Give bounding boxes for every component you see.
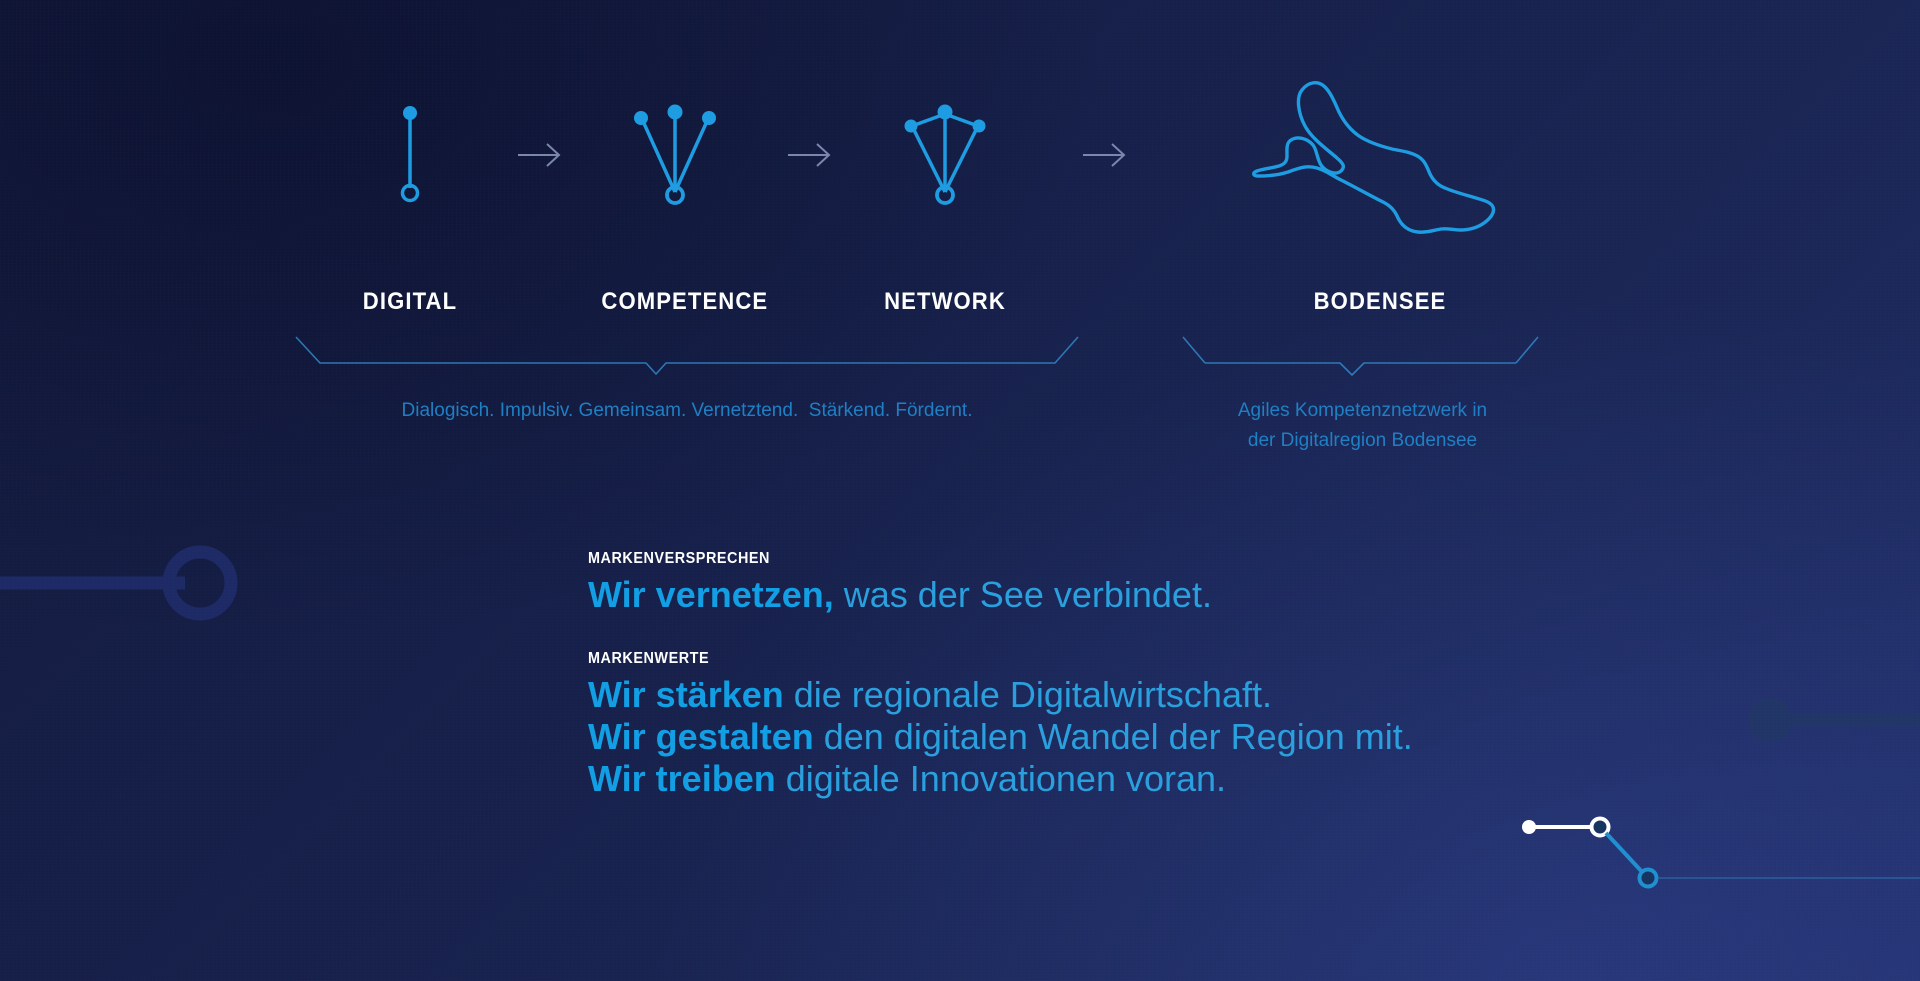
- markenwerte-line-2-bold: Wir gestalten: [588, 716, 814, 757]
- markenwerte-line-1-bold: Wir stärken: [588, 674, 784, 715]
- markenwerte-line-3: Wir treiben digitale Innovationen voran.: [588, 758, 1528, 800]
- markenwerte-line-1: Wir stärken die regionale Digitalwirtsch…: [588, 674, 1528, 716]
- connected-network-icon: [890, 99, 1000, 211]
- page-background: DIGITAL COMPETENCE NETWORK BODENSEE Dial…: [0, 0, 1920, 981]
- markenversprechen-group: MARKENVERSPRECHEN Wir vernetzen, was der…: [588, 550, 1528, 616]
- eyebrow-markenversprechen: MARKENVERSPRECHEN: [588, 550, 1434, 568]
- arrow-right-icon: [517, 141, 563, 169]
- stage-icon-bodensee: [1225, 60, 1535, 250]
- stage-icon-digital: [330, 60, 490, 250]
- stage-icon-competence: [595, 60, 755, 250]
- three-node-fan-icon: [620, 99, 730, 211]
- eyebrow-markenwerte: MARKENWERTE: [588, 650, 1434, 668]
- caption-right: Agiles Kompetenznetzwerk in der Digitalr…: [1185, 396, 1540, 456]
- bracket-right-right-leg: [1516, 337, 1538, 363]
- stage-arrow-2: [760, 60, 860, 250]
- left-node-decoration: [0, 552, 231, 614]
- stage-icon-network: [865, 60, 1025, 250]
- stage-label-network: NETWORK: [871, 288, 1018, 316]
- caption-right-line2: der Digitalregion Bodensee: [1185, 426, 1540, 456]
- markenwerte-line-2-rest: den digitalen Wandel der Region mit.: [814, 716, 1413, 757]
- markenwerte-list: Wir stärken die regionale Digitalwirtsch…: [588, 674, 1528, 800]
- claim-bold: Wir vernetzen,: [588, 574, 834, 615]
- stage-icon-row: [0, 60, 1920, 250]
- stage-arrow-1: [490, 60, 590, 250]
- stage-arrow-3: [1055, 60, 1155, 250]
- caption-left: Dialogisch. Impulsiv. Gemeinsam. Vernetz…: [296, 396, 1078, 426]
- stage-label-bodensee: BODENSEE: [1237, 288, 1522, 316]
- right-bottom-node-decoration: [1522, 819, 1920, 887]
- caption-right-line1: Agiles Kompetenznetzwerk in: [1185, 396, 1540, 426]
- bracket-right: [1205, 363, 1516, 375]
- stage-label-digital: DIGITAL: [336, 288, 483, 316]
- bracket-left: [296, 337, 1078, 374]
- markenwerte-line-3-bold: Wir treiben: [588, 758, 776, 799]
- stage-label-competence: COMPETENCE: [601, 288, 748, 316]
- bracket-right-left-leg: [1183, 337, 1205, 363]
- single-node-icon: [380, 100, 440, 210]
- markenwerte-group: MARKENWERTE Wir stärken die regionale Di…: [588, 650, 1528, 800]
- claim-markenversprechen: Wir vernetzen, was der See verbindet.: [588, 574, 1528, 616]
- arrow-right-icon: [787, 141, 833, 169]
- right-top-node-decoration: [1748, 698, 1920, 742]
- bodensee-lake-outline-icon: [1245, 68, 1515, 243]
- copy-block: MARKENVERSPRECHEN Wir vernetzen, was der…: [588, 550, 1528, 800]
- claim-rest: was der See verbindet.: [834, 574, 1212, 615]
- markenwerte-line-2: Wir gestalten den digitalen Wandel der R…: [588, 716, 1528, 758]
- arrow-right-icon: [1082, 141, 1128, 169]
- markenwerte-line-1-rest: die regionale Digitalwirtschaft.: [784, 674, 1272, 715]
- markenwerte-line-3-rest: digitale Innovationen voran.: [776, 758, 1226, 799]
